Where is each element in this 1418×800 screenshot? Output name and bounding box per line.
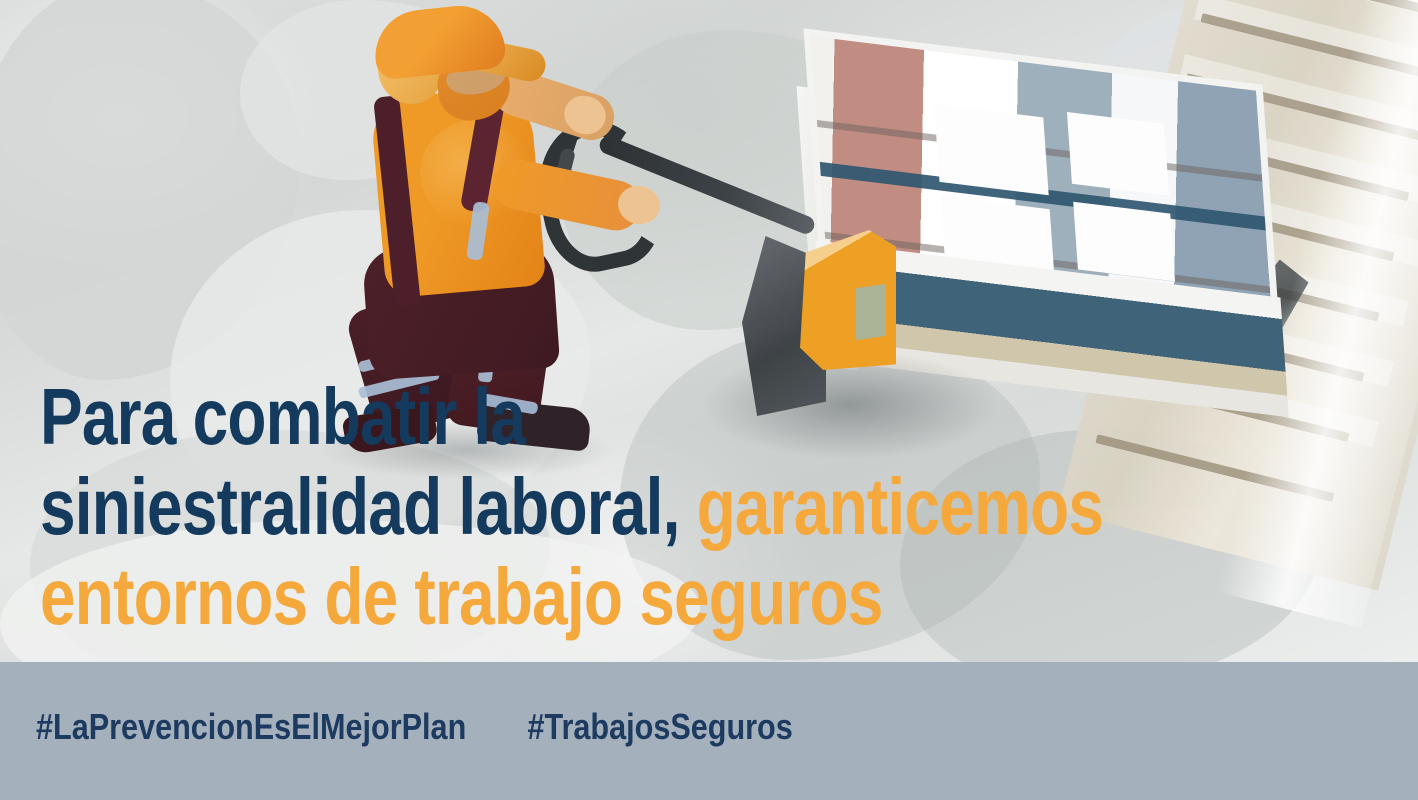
hashtag-group: #LaPrevencionEsElMejorPlan#TrabajosSegur… bbox=[36, 706, 793, 748]
pallet-truck-panel bbox=[856, 284, 886, 340]
safety-campaign-poster: Para combatir la siniestralidad laboral,… bbox=[0, 0, 1418, 800]
worker-cap bbox=[371, 1, 507, 80]
headline-line-2-navy: siniestralidad laboral, bbox=[40, 462, 680, 551]
headline-line-2-orange: garanticemos bbox=[680, 462, 1104, 551]
page-title: Para combatir la siniestralidad laboral,… bbox=[40, 372, 1104, 642]
hashtag-trabajos-seguros[interactable]: #TrabajosSeguros bbox=[527, 706, 792, 748]
box-label bbox=[1067, 112, 1169, 196]
headline-line-1: Para combatir la bbox=[40, 372, 1104, 462]
warehouse-worker-figure bbox=[296, 0, 626, 400]
headline-line-3: entornos de trabajo seguros bbox=[40, 552, 1104, 642]
background-photo: Para combatir la siniestralidad laboral,… bbox=[0, 0, 1418, 662]
box-label bbox=[934, 104, 1049, 195]
headline-line-2: siniestralidad laboral, garanticemos bbox=[40, 462, 1104, 552]
box-label bbox=[1073, 202, 1175, 282]
hashtag-prevencion[interactable]: #LaPrevencionEsElMejorPlan bbox=[36, 706, 466, 748]
footer-bar: #LaPrevencionEsElMejorPlan#TrabajosSegur… bbox=[0, 662, 1418, 800]
